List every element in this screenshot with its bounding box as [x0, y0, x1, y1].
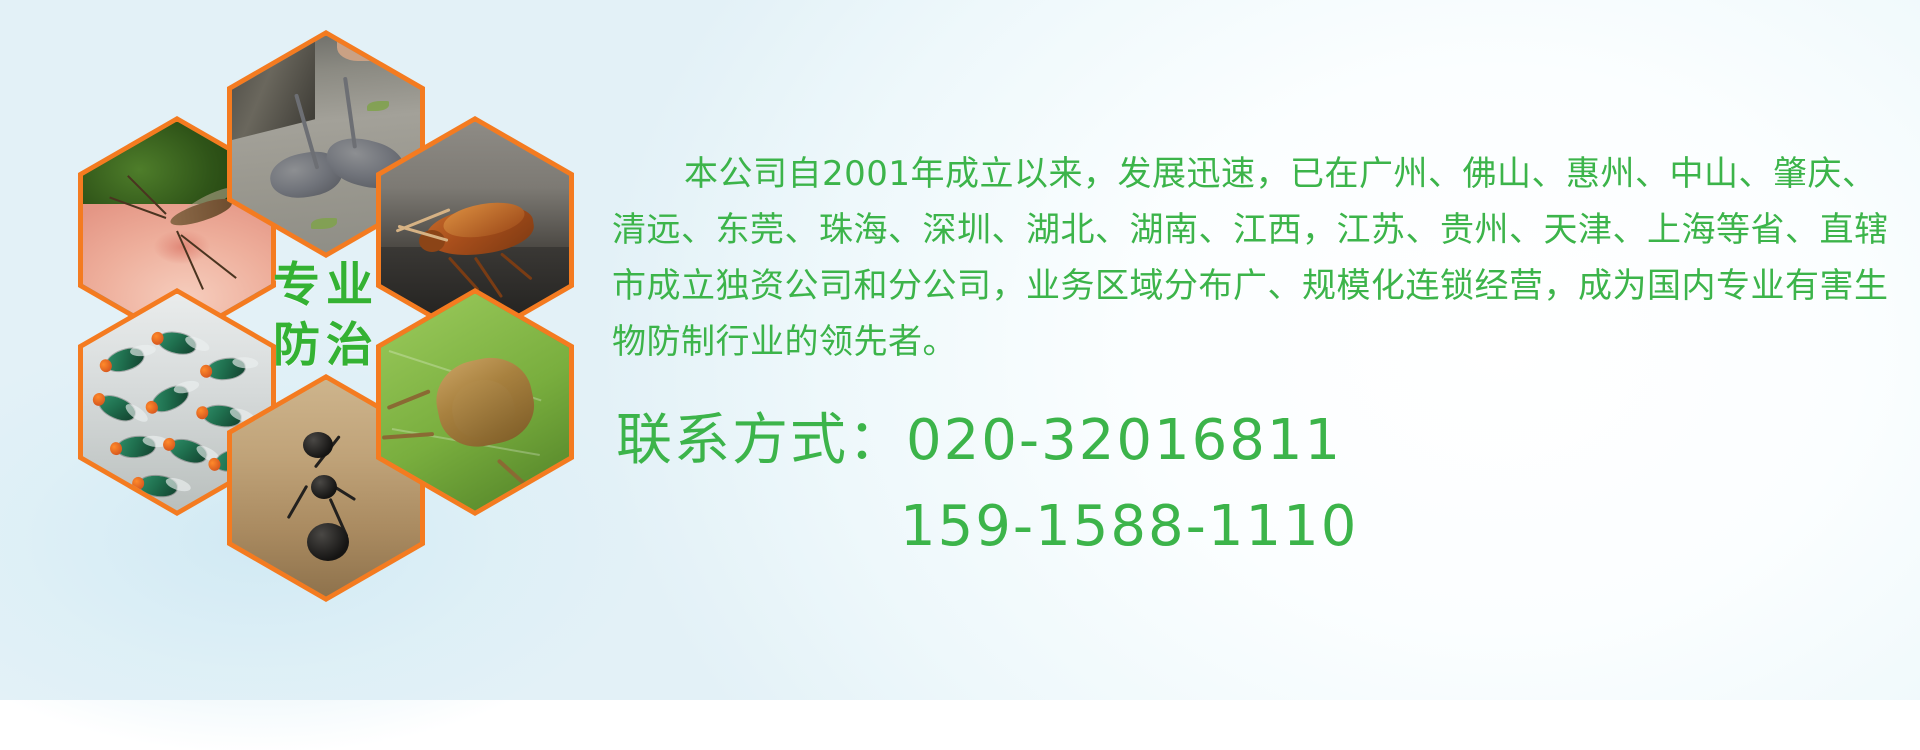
- rat-tail: [343, 76, 357, 148]
- ant-head: [303, 432, 333, 458]
- fly: [138, 474, 178, 498]
- promo-banner: 专业 防治 本公司自2001年成立以来，发展迅速，已在广州、佛山、惠州、中山、肇…: [0, 0, 1920, 700]
- fly: [167, 436, 209, 467]
- ant-thorax: [311, 475, 337, 499]
- ant-abdomen: [307, 523, 349, 561]
- contact-line-landline[interactable]: 联系方式：020-32016811: [616, 398, 1906, 484]
- center-label-line2: 防治: [273, 316, 379, 376]
- fly: [157, 329, 198, 356]
- hand: [337, 36, 389, 61]
- honeycomb-image-cluster: 专业 防治: [78, 4, 598, 574]
- honeycomb-center-label: 专业 防治: [227, 202, 425, 430]
- contact-line-mobile[interactable]: 159-1588-1110: [616, 484, 1906, 570]
- intro-paragraph: 本公司自2001年成立以来，发展迅速，已在广州、佛山、惠州、中山、肇庆、清远、东…: [612, 146, 1904, 370]
- fly: [103, 345, 145, 376]
- center-label-line1: 专业: [273, 256, 379, 316]
- fly: [116, 435, 156, 459]
- leaf-debris: [367, 101, 389, 111]
- ant-leg: [287, 484, 309, 518]
- fly: [96, 391, 139, 425]
- contact-block: 联系方式：020-32016811 159-1588-1110: [616, 398, 1906, 570]
- fly: [148, 382, 191, 417]
